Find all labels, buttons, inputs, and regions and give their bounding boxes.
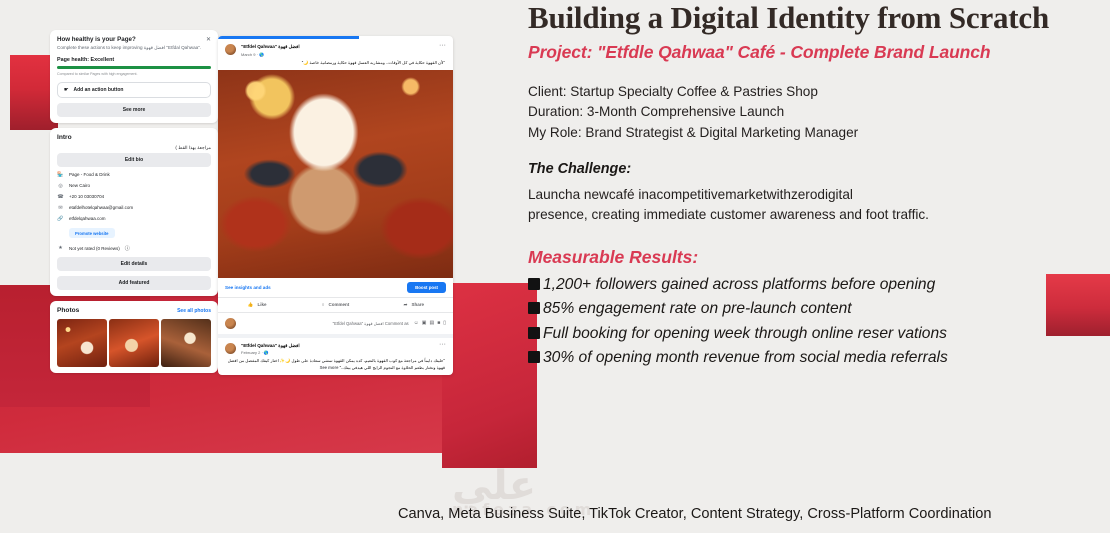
camera-icon[interactable]: ■ — [437, 320, 440, 326]
result-item: 1,200+ followers gained across platforms… — [528, 273, 1110, 297]
meta-client: Client: Startup Specialty Coffee & Pastr… — [528, 82, 1110, 103]
page-health-subtitle: Complete these actions to keep improving… — [57, 45, 211, 51]
project-meta: Client: Startup Specialty Coffee & Pastr… — [528, 82, 1110, 144]
facebook-post-panel: افضل قهوة "Etfdel Qahwaa" March 9 · 🌎 ··… — [218, 36, 453, 375]
promote-website-button[interactable]: Promote website — [69, 228, 115, 238]
intro-detail-label: Page - Food & Drink — [69, 172, 110, 177]
page-health-title: How healthy is your Page? — [57, 36, 211, 43]
intro-detail-row: 🔗 etfdelqahwaa.com — [57, 216, 211, 222]
result-text: 30% of opening month revenue from social… — [543, 349, 948, 366]
comment-button[interactable]: ○ Comment — [296, 298, 374, 312]
challenge-line-1: Launcha newcafé inacompetitivemarketwith… — [528, 185, 1110, 205]
intro-detail-label: New Cairo — [69, 183, 90, 188]
post-page-name[interactable]: افضل قهوة "Etfdel Qahwaa" — [241, 44, 300, 50]
post-date: March 9 · 🌎 — [241, 52, 300, 57]
page-health-note: Compared to similar Pages with high enga… — [57, 72, 211, 76]
slide-content: Building a Digital Identity from Scratch… — [528, 2, 1110, 370]
post-body: "لأن القهوة حكاية في كل الأوقات.. ومشارب… — [218, 59, 453, 70]
second-post-date-label: February 2 — [241, 350, 260, 355]
intro-detail-row: ◎ New Cairo — [57, 183, 211, 189]
photo-grid — [57, 319, 211, 367]
bullet-square-icon — [528, 327, 540, 339]
globe-icon: · 🌎 — [261, 350, 268, 355]
sticker-icon[interactable]: ▤ — [429, 320, 434, 326]
attachment-icon[interactable]: ▯ — [443, 320, 446, 326]
photos-card: Photos See all photos — [50, 301, 218, 373]
phone-icon: ☎ — [57, 194, 64, 200]
second-post-header: افضل قهوة "Etfdel Qahwaa" February 2 · 🌎… — [218, 338, 453, 358]
page-subtitle: Project: "Etfdle Qahwaa" Café - Complete… — [528, 42, 1110, 63]
intro-detail-label: etafdelhotelqahwaa@gmail.com — [69, 205, 133, 210]
result-item: 85% engagement rate on pre-launch conten… — [528, 297, 1110, 321]
share-label: Share — [411, 302, 424, 307]
thumbs-up-icon: 👍 — [248, 302, 254, 308]
results-list: 1,200+ followers gained across platforms… — [528, 273, 1110, 370]
boost-post-button[interactable]: Boost post — [407, 282, 446, 293]
post-actions: 👍 Like ○ Comment ➦ Share — [218, 297, 453, 313]
result-item: Full booking for opening week through on… — [528, 322, 1110, 346]
add-featured-button[interactable]: Add featured — [57, 276, 211, 290]
second-post-body: "حليتك دايماً في مراجعة مع كوب القهوة با… — [218, 357, 453, 375]
comment-input[interactable]: Comment as افضل قهوة "Etfdel Qahwaa" — [241, 321, 409, 326]
comment-icon: ○ — [322, 302, 325, 307]
post-header: افضل قهوة "Etfdel Qahwaa" March 9 · 🌎 ··… — [218, 39, 453, 59]
photos-header: Photos See all photos — [57, 307, 211, 314]
post-insights-row: See insights and ads Boost post — [218, 278, 453, 297]
second-post-date: February 2 · 🌎 — [241, 350, 300, 355]
intro-detail-label: +20 10 03030704 — [69, 194, 104, 199]
add-action-button-label: Add an action button — [73, 87, 123, 93]
page-health-label: Page health: Excellent — [57, 57, 211, 63]
comment-label: Comment — [328, 302, 349, 307]
intro-detail-label[interactable]: etfdelqahwaa.com — [69, 216, 106, 221]
see-more-button[interactable]: See more — [57, 103, 211, 117]
tools-list: Canva, Meta Business Suite, TikTok Creat… — [398, 506, 1098, 522]
avatar[interactable] — [225, 343, 236, 354]
add-action-button[interactable]: ☛ Add an action button — [57, 82, 211, 98]
rating-row: ★ Not yet rated (0 Reviews) ⓘ — [57, 245, 211, 252]
result-text: 1,200+ followers gained across platforms… — [543, 276, 935, 293]
second-post-see-more[interactable]: See more — [320, 365, 339, 370]
facebook-page-sidebar: ✕ How healthy is your Page? Complete the… — [50, 30, 218, 373]
avatar — [225, 318, 236, 329]
share-icon: ➦ — [404, 302, 408, 308]
close-icon[interactable]: ✕ — [206, 36, 211, 43]
rating-text: Not yet rated (0 Reviews) — [69, 246, 120, 251]
photo-thumbnail[interactable] — [57, 319, 107, 367]
result-text: Full booking for opening week through on… — [543, 325, 947, 342]
info-icon[interactable]: ⓘ — [125, 245, 130, 252]
intro-detail-row: 🏪 Page - Food & Drink — [57, 172, 211, 178]
see-all-photos-link[interactable]: See all photos — [177, 308, 211, 314]
link-icon: 🔗 — [57, 216, 64, 222]
photo-thumbnail[interactable] — [161, 319, 211, 367]
bullet-square-icon — [528, 302, 540, 314]
bullet-square-icon — [528, 278, 540, 290]
result-text: 85% engagement rate on pre-launch conten… — [543, 300, 852, 317]
gif-icon[interactable]: ▣ — [422, 320, 427, 326]
meta-duration: Duration: 3-Month Comprehensive Launch — [528, 102, 1110, 123]
comment-tool-icons: ☺ ▣ ▤ ■ ▯ — [414, 320, 446, 326]
page-health-card: ✕ How healthy is your Page? Complete the… — [50, 30, 218, 123]
intro-bio: مراجعة بهذا القط ) — [57, 145, 211, 151]
see-insights-and-ads-link[interactable]: See insights and ads — [225, 285, 271, 290]
comment-composer[interactable]: Comment as افضل قهوة "Etfdel Qahwaa" ☺ ▣… — [218, 313, 453, 334]
photos-title: Photos — [57, 307, 79, 314]
results-heading: Measurable Results: — [528, 247, 1110, 268]
bullet-square-icon — [528, 351, 540, 363]
edit-details-button[interactable]: Edit details — [57, 257, 211, 271]
result-item: 30% of opening month revenue from social… — [528, 346, 1110, 370]
challenge-heading: The Challenge: — [528, 161, 1110, 177]
challenge-line-2: presence, creating immediate customer aw… — [528, 205, 1110, 225]
post-image[interactable] — [218, 70, 453, 278]
globe-icon: · 🌎 — [257, 52, 264, 57]
page-title: Building a Digital Identity from Scratch — [528, 2, 1110, 35]
store-icon: 🏪 — [57, 172, 64, 178]
meta-role: My Role: Brand Strategist & Digital Mark… — [528, 123, 1110, 144]
like-button[interactable]: 👍 Like — [218, 298, 296, 312]
like-label: Like — [257, 302, 266, 307]
star-icon: ★ — [57, 245, 64, 251]
photo-thumbnail[interactable] — [109, 319, 159, 367]
email-icon: ✉ — [57, 205, 64, 211]
more-options-icon[interactable]: ··· — [439, 343, 446, 347]
page-health-progress-bar — [57, 66, 211, 68]
second-post-page-name[interactable]: افضل قهوة "Etfdel Qahwaa" — [241, 343, 300, 349]
location-icon: ◎ — [57, 183, 64, 189]
decorative-red-block-middle — [442, 283, 537, 468]
post-date-label: March 9 — [241, 52, 255, 57]
edit-bio-button[interactable]: Edit bio — [57, 153, 211, 167]
cursor-icon: ☛ — [64, 87, 68, 93]
challenge-body: Launcha newcafé inacompetitivemarketwith… — [528, 185, 1110, 226]
emoji-icon[interactable]: ☺ — [414, 320, 419, 326]
intro-detail-row: ✉ etafdelhotelqahwaa@gmail.com — [57, 205, 211, 211]
share-button[interactable]: ➦ Share — [375, 298, 453, 312]
intro-detail-row: ☎ +20 10 03030704 — [57, 194, 211, 200]
intro-title: Intro — [57, 134, 211, 141]
more-options-icon[interactable]: ··· — [439, 44, 446, 48]
avatar[interactable] — [225, 44, 236, 55]
intro-card: Intro مراجعة بهذا القط ) Edit bio 🏪 Page… — [50, 128, 218, 296]
